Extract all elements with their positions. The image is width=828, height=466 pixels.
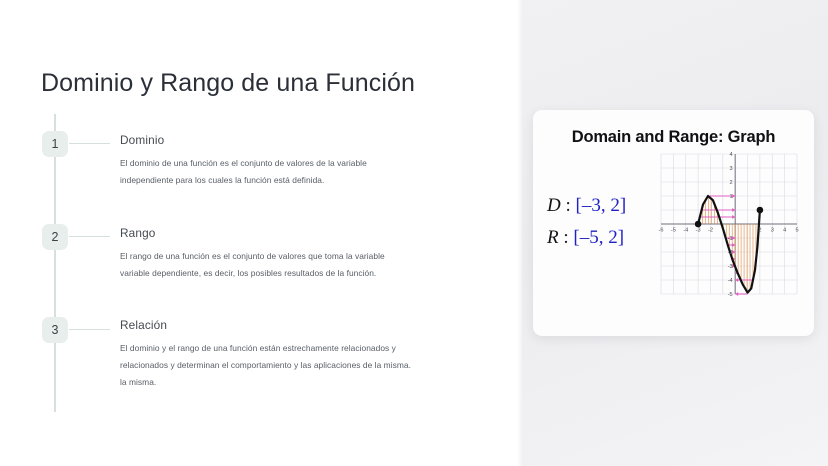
svg-text:-4: -4 [683,228,688,234]
range-symbol: R [547,227,559,248]
svg-text:-6: -6 [659,228,664,234]
step-body-3-line-2: relacionados y determinan el comportamie… [120,357,500,374]
svg-text:-3: -3 [696,228,701,234]
svg-text:2: 2 [730,180,733,186]
svg-text:-2: -2 [728,250,733,256]
svg-text:-1: -1 [728,236,733,242]
range-colon: : [559,227,574,248]
svg-text:3: 3 [730,166,733,172]
step-badge-3[interactable]: 3 [42,317,68,343]
step-title-1: Dominio [120,133,164,147]
svg-text:4: 4 [730,152,733,158]
page-title: Dominio y Rango de una Función [41,69,415,98]
step-connector-1 [69,143,110,144]
function-graph-svg: -6-5-4-3-22345 -5-4-3-2-11234 [655,148,803,300]
step-body-2-line-1: El rango de una función es el conjunto d… [120,248,500,265]
step-body-1: El dominio de una función es el conjunto… [120,155,500,189]
step-connector-2 [69,236,110,237]
svg-text:-4: -4 [728,278,733,284]
timeline-axis [54,114,56,412]
step-body-1-line-2: independiente para los cuales la función… [120,172,500,189]
step-body-1-line-1: El dominio de una función es el conjunto… [120,155,500,172]
domain-value: [–3, 2] [576,195,627,216]
range-arrow-lines [700,194,753,296]
step-body-2: El rango de una función es el conjunto d… [120,248,500,282]
step-connector-3 [69,329,110,330]
domain-symbol: D [547,195,561,216]
step-title-3: Relación [120,318,167,332]
svg-text:-5: -5 [671,228,676,234]
step-body-3-line-1: El dominio y el rango de una función est… [120,340,500,357]
graph-card-title: Domain and Range: Graph [533,128,814,147]
step-body-3-line-3: la misma. [120,374,500,391]
step-body-2-line-2: variable dependiente, es decir, los posi… [120,265,500,282]
svg-text:2: 2 [758,228,761,234]
x-axis-tick-labels: -6-5-4-3-22345 [659,228,799,234]
step-badge-1[interactable]: 1 [42,131,68,157]
svg-text:-3: -3 [728,264,733,270]
svg-text:1: 1 [730,194,733,200]
step-title-2: Rango [120,226,156,240]
range-value: [–5, 2] [573,227,624,248]
domain-expression: D : [–3, 2] [547,195,626,217]
function-graph: -6-5-4-3-22345 -5-4-3-2-11234 [655,148,803,300]
svg-text:-5: -5 [728,292,733,298]
svg-text:3: 3 [771,228,774,234]
domain-colon: : [561,195,576,216]
step-body-3: El dominio y el rango de una función est… [120,340,500,392]
step-badge-2[interactable]: 2 [42,224,68,250]
svg-text:5: 5 [795,228,798,234]
svg-text:-2: -2 [708,228,713,234]
right-panel-edge [517,0,522,466]
range-expression: R : [–5, 2] [547,227,624,249]
graph-card[interactable]: Domain and Range: Graph D : [–3, 2] R : … [533,110,814,336]
svg-text:4: 4 [783,228,786,234]
